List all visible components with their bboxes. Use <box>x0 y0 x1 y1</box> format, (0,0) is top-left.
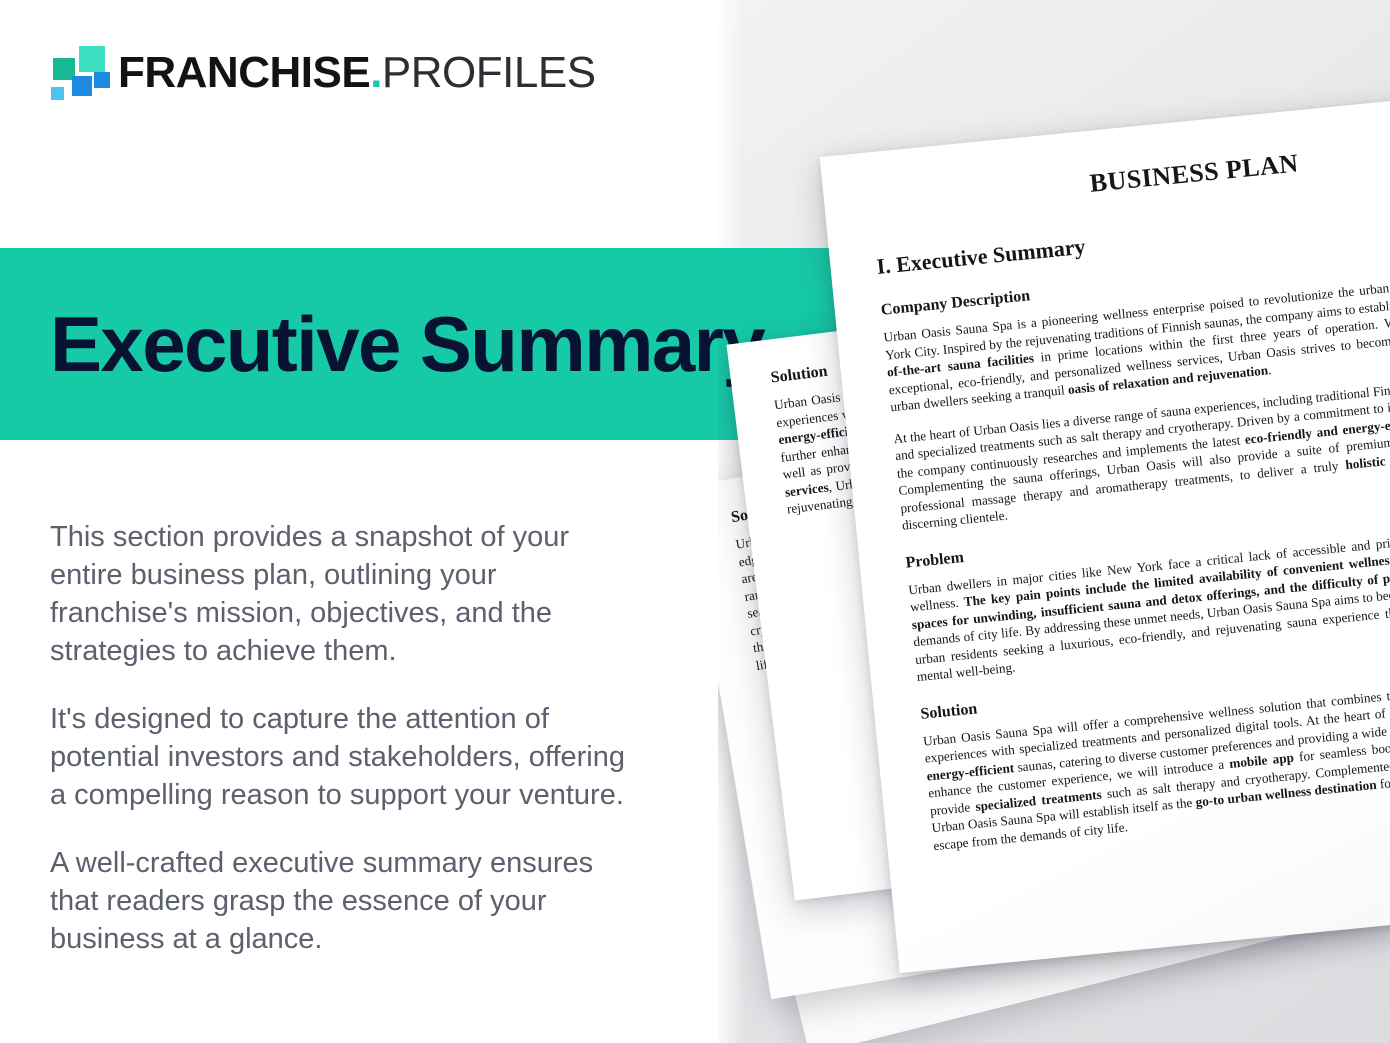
logo-square-mint <box>79 46 105 72</box>
logo-word-franchise: FRANCHISE <box>118 48 370 97</box>
page-title: Executive Summary <box>50 305 764 383</box>
paper-sheet-front: BUSINESS PLAN I. Executive Summary Compa… <box>820 87 1390 973</box>
paper-front-content: BUSINESS PLAN I. Executive Summary Compa… <box>869 127 1390 868</box>
logo-squares-icon <box>46 44 106 102</box>
body-paragraph-2: It's designed to capture the attention o… <box>50 700 640 814</box>
logo-square-lightblue <box>51 87 64 100</box>
body-paragraph-3: A well-crafted executive summary ensures… <box>50 844 640 958</box>
document-title: BUSINESS PLAN <box>869 127 1390 220</box>
document-section-company-description: Company Description Urban Oasis Sauna Sp… <box>880 238 1390 534</box>
logo-dot: . <box>370 48 382 97</box>
body-paragraph-1: This section provides a snapshot of your… <box>50 518 640 670</box>
brand-logo[interactable]: FRANCHISE.PROFILES <box>46 42 566 104</box>
document-stack: Solution Urban Oasis Sauna Spa will offe… <box>718 0 1390 1043</box>
body-copy: This section provides a snapshot of your… <box>50 518 640 958</box>
logo-wordmark: FRANCHISE.PROFILES <box>118 42 596 104</box>
slide-canvas: FRANCHISE.PROFILES Executive Summary Thi… <box>0 0 1390 1043</box>
logo-square-blue-small <box>94 72 110 88</box>
logo-word-profiles: PROFILES <box>382 48 596 97</box>
logo-square-blue <box>72 76 92 96</box>
